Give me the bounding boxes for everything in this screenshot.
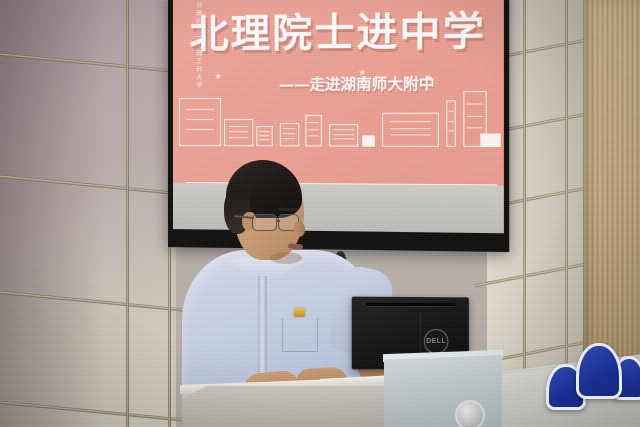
- lecture-hall-photo: 创建的第一所理工科大学 北理院士进中学 ——走进湖南师大附中: [0, 0, 640, 427]
- monitor-vent: [366, 303, 455, 307]
- skyline-dome-observatory: [329, 124, 359, 146]
- skyline-illustration: [173, 66, 504, 147]
- skyline-satellite-dish: [279, 123, 299, 147]
- left-wall-panels: [0, 0, 176, 427]
- chin-shadow: [270, 252, 302, 264]
- skyline-rocket-launch: [306, 115, 322, 147]
- skyline-university-building-left: [179, 98, 221, 146]
- skyline-colonnade: [224, 119, 253, 146]
- mouth: [288, 243, 303, 249]
- podium-knob-icon[interactable]: [455, 400, 485, 427]
- skyline-tree-cluster: [257, 126, 273, 146]
- skyline-small-block: [362, 135, 375, 146]
- glasses-bridge: [276, 220, 280, 222]
- star-icon: [215, 73, 222, 80]
- shirt-pocket: [282, 318, 318, 352]
- dell-logo-icon: DELL: [424, 329, 449, 354]
- chair-back: [576, 343, 622, 399]
- glasses-icon: [252, 214, 277, 231]
- slide-title: 北理院士进中学: [173, 0, 504, 59]
- nose: [294, 222, 305, 237]
- star-icon: [359, 69, 366, 76]
- left-wall-grid: [0, 0, 176, 427]
- star-icon: [426, 75, 433, 82]
- podium-body: [182, 386, 387, 427]
- skyline-pagoda-gate-tower: [382, 113, 439, 147]
- chair-2: [576, 343, 622, 399]
- skyline-pedestal-right: [480, 134, 501, 147]
- head: [226, 160, 308, 262]
- skyline-pylon-antenna: [446, 100, 456, 147]
- lapel-badge-icon: [294, 308, 305, 317]
